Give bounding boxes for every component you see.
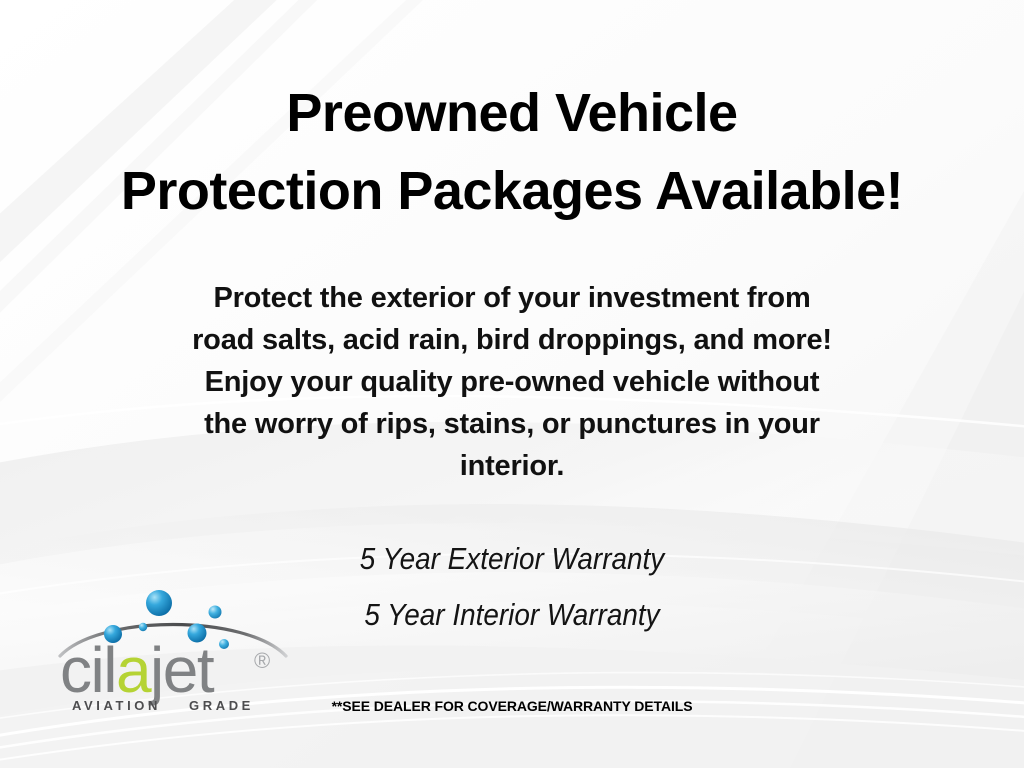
body-line-3: Enjoy your quality pre-owned vehicle wit…	[0, 361, 1024, 403]
body-line-5: interior.	[0, 445, 1024, 487]
cilajet-logo: cilajet ® AVIATION GRADE	[58, 586, 288, 714]
logo-tagline-left: AVIATION	[72, 698, 161, 713]
logo-bubble-right	[209, 606, 222, 619]
headline-line-2: Protection Packages Available!	[0, 152, 1024, 230]
headline-line-1: Preowned Vehicle	[286, 83, 737, 143]
slide-canvas: Preowned Vehicle Protection Packages Ava…	[0, 0, 1024, 768]
logo-registered-icon: ®	[254, 648, 270, 673]
logo-wordmark-part2: jet	[148, 634, 215, 706]
body-line-4: the worry of rips, stains, or punctures …	[0, 403, 1024, 445]
slide-headline: Preowned Vehicle Protection Packages Ava…	[0, 74, 1024, 230]
warranty-exterior: 5 Year Exterior Warranty	[51, 531, 973, 587]
body-line-1: Protect the exterior of your investment …	[0, 277, 1024, 319]
body-line-2: road salts, acid rain, bird droppings, a…	[0, 319, 1024, 361]
logo-wordmark-accent: a	[116, 634, 152, 706]
logo-bubble-small	[139, 623, 147, 631]
logo-bubble-large	[146, 590, 172, 616]
logo-wordmark: cilajet	[60, 634, 215, 706]
logo-bubble-tiny	[219, 639, 229, 649]
logo-tagline-right: GRADE	[189, 698, 254, 713]
logo-wordmark-part1: cil	[60, 634, 116, 706]
body-copy: Protect the exterior of your investment …	[0, 277, 1024, 487]
